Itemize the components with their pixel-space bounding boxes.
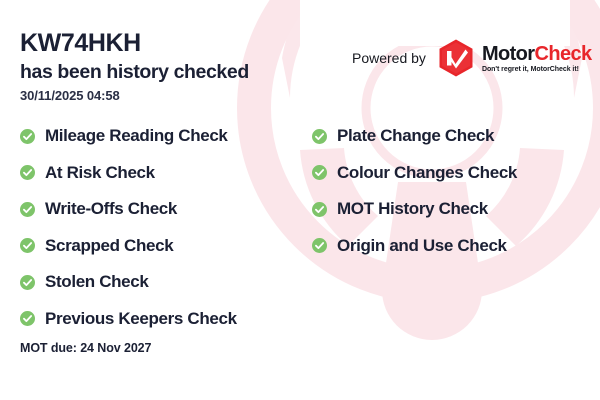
check-item-label: At Risk Check <box>45 163 155 183</box>
check-item-label: Colour Changes Check <box>337 163 517 183</box>
check-timestamp: 30/11/2025 04:58 <box>20 88 350 103</box>
check-item-write-offs: Write-Offs Check <box>20 191 312 228</box>
check-item-label: Write-Offs Check <box>45 199 177 219</box>
check-item-colour-changes: Colour Changes Check <box>312 155 585 192</box>
header: KW74HKH has been history checked 30/11/2… <box>20 30 350 103</box>
check-item-previous-keepers: Previous Keepers Check <box>20 301 312 338</box>
check-item-label: Scrapped Check <box>45 236 173 256</box>
logo-word-motor: Motor <box>482 43 535 65</box>
green-check-circle-icon <box>20 238 35 253</box>
check-item-mot-history: MOT History Check <box>312 191 585 228</box>
registration-plate: KW74HKH <box>20 30 350 58</box>
check-item-mileage-reading: Mileage Reading Check <box>20 118 312 155</box>
mot-due-label: MOT due: 24 Nov 2027 <box>20 341 151 355</box>
check-item-plate-change: Plate Change Check <box>312 118 585 155</box>
green-check-circle-icon <box>20 129 35 144</box>
check-item-scrapped: Scrapped Check <box>20 228 312 265</box>
page-title: has been history checked <box>20 61 350 83</box>
green-check-circle-icon <box>312 238 327 253</box>
green-check-circle-icon <box>312 165 327 180</box>
green-check-circle-icon <box>20 275 35 290</box>
check-item-label: Mileage Reading Check <box>45 126 228 146</box>
green-check-circle-icon <box>20 165 35 180</box>
checks-column-right: Plate Change Check Colour Changes Check … <box>312 118 585 337</box>
check-item-label: Stolen Check <box>45 272 149 292</box>
motorcheck-logo[interactable]: MotorCheck Don't regret it, MotorCheck i… <box>436 38 592 78</box>
check-item-at-risk: At Risk Check <box>20 155 312 192</box>
history-check-card: KW74HKH has been history checked 30/11/2… <box>0 0 600 400</box>
check-item-label: Origin and Use Check <box>337 236 507 256</box>
checks-list: Mileage Reading Check At Risk Check Writ… <box>20 118 585 337</box>
green-check-circle-icon <box>312 129 327 144</box>
check-item-label: MOT History Check <box>337 199 488 219</box>
powered-by-block: Powered by MotorCheck Don't regret it, M… <box>352 38 592 78</box>
check-item-label: Previous Keepers Check <box>45 309 237 329</box>
logo-wordmark: MotorCheck <box>482 44 592 64</box>
logo-word-check: Check <box>534 43 591 65</box>
green-check-circle-icon <box>20 202 35 217</box>
check-item-stolen: Stolen Check <box>20 264 312 301</box>
card-content: KW74HKH has been history checked 30/11/2… <box>0 0 600 400</box>
check-item-label: Plate Change Check <box>337 126 494 146</box>
motorcheck-hexagon-icon <box>436 38 476 78</box>
powered-by-label: Powered by <box>352 50 426 66</box>
checks-column-left: Mileage Reading Check At Risk Check Writ… <box>20 118 312 337</box>
green-check-circle-icon <box>312 202 327 217</box>
logo-tagline: Don't regret it, MotorCheck it! <box>482 66 592 73</box>
logo-text-block: MotorCheck Don't regret it, MotorCheck i… <box>482 44 592 73</box>
green-check-circle-icon <box>20 311 35 326</box>
check-item-origin-and-use: Origin and Use Check <box>312 228 585 265</box>
